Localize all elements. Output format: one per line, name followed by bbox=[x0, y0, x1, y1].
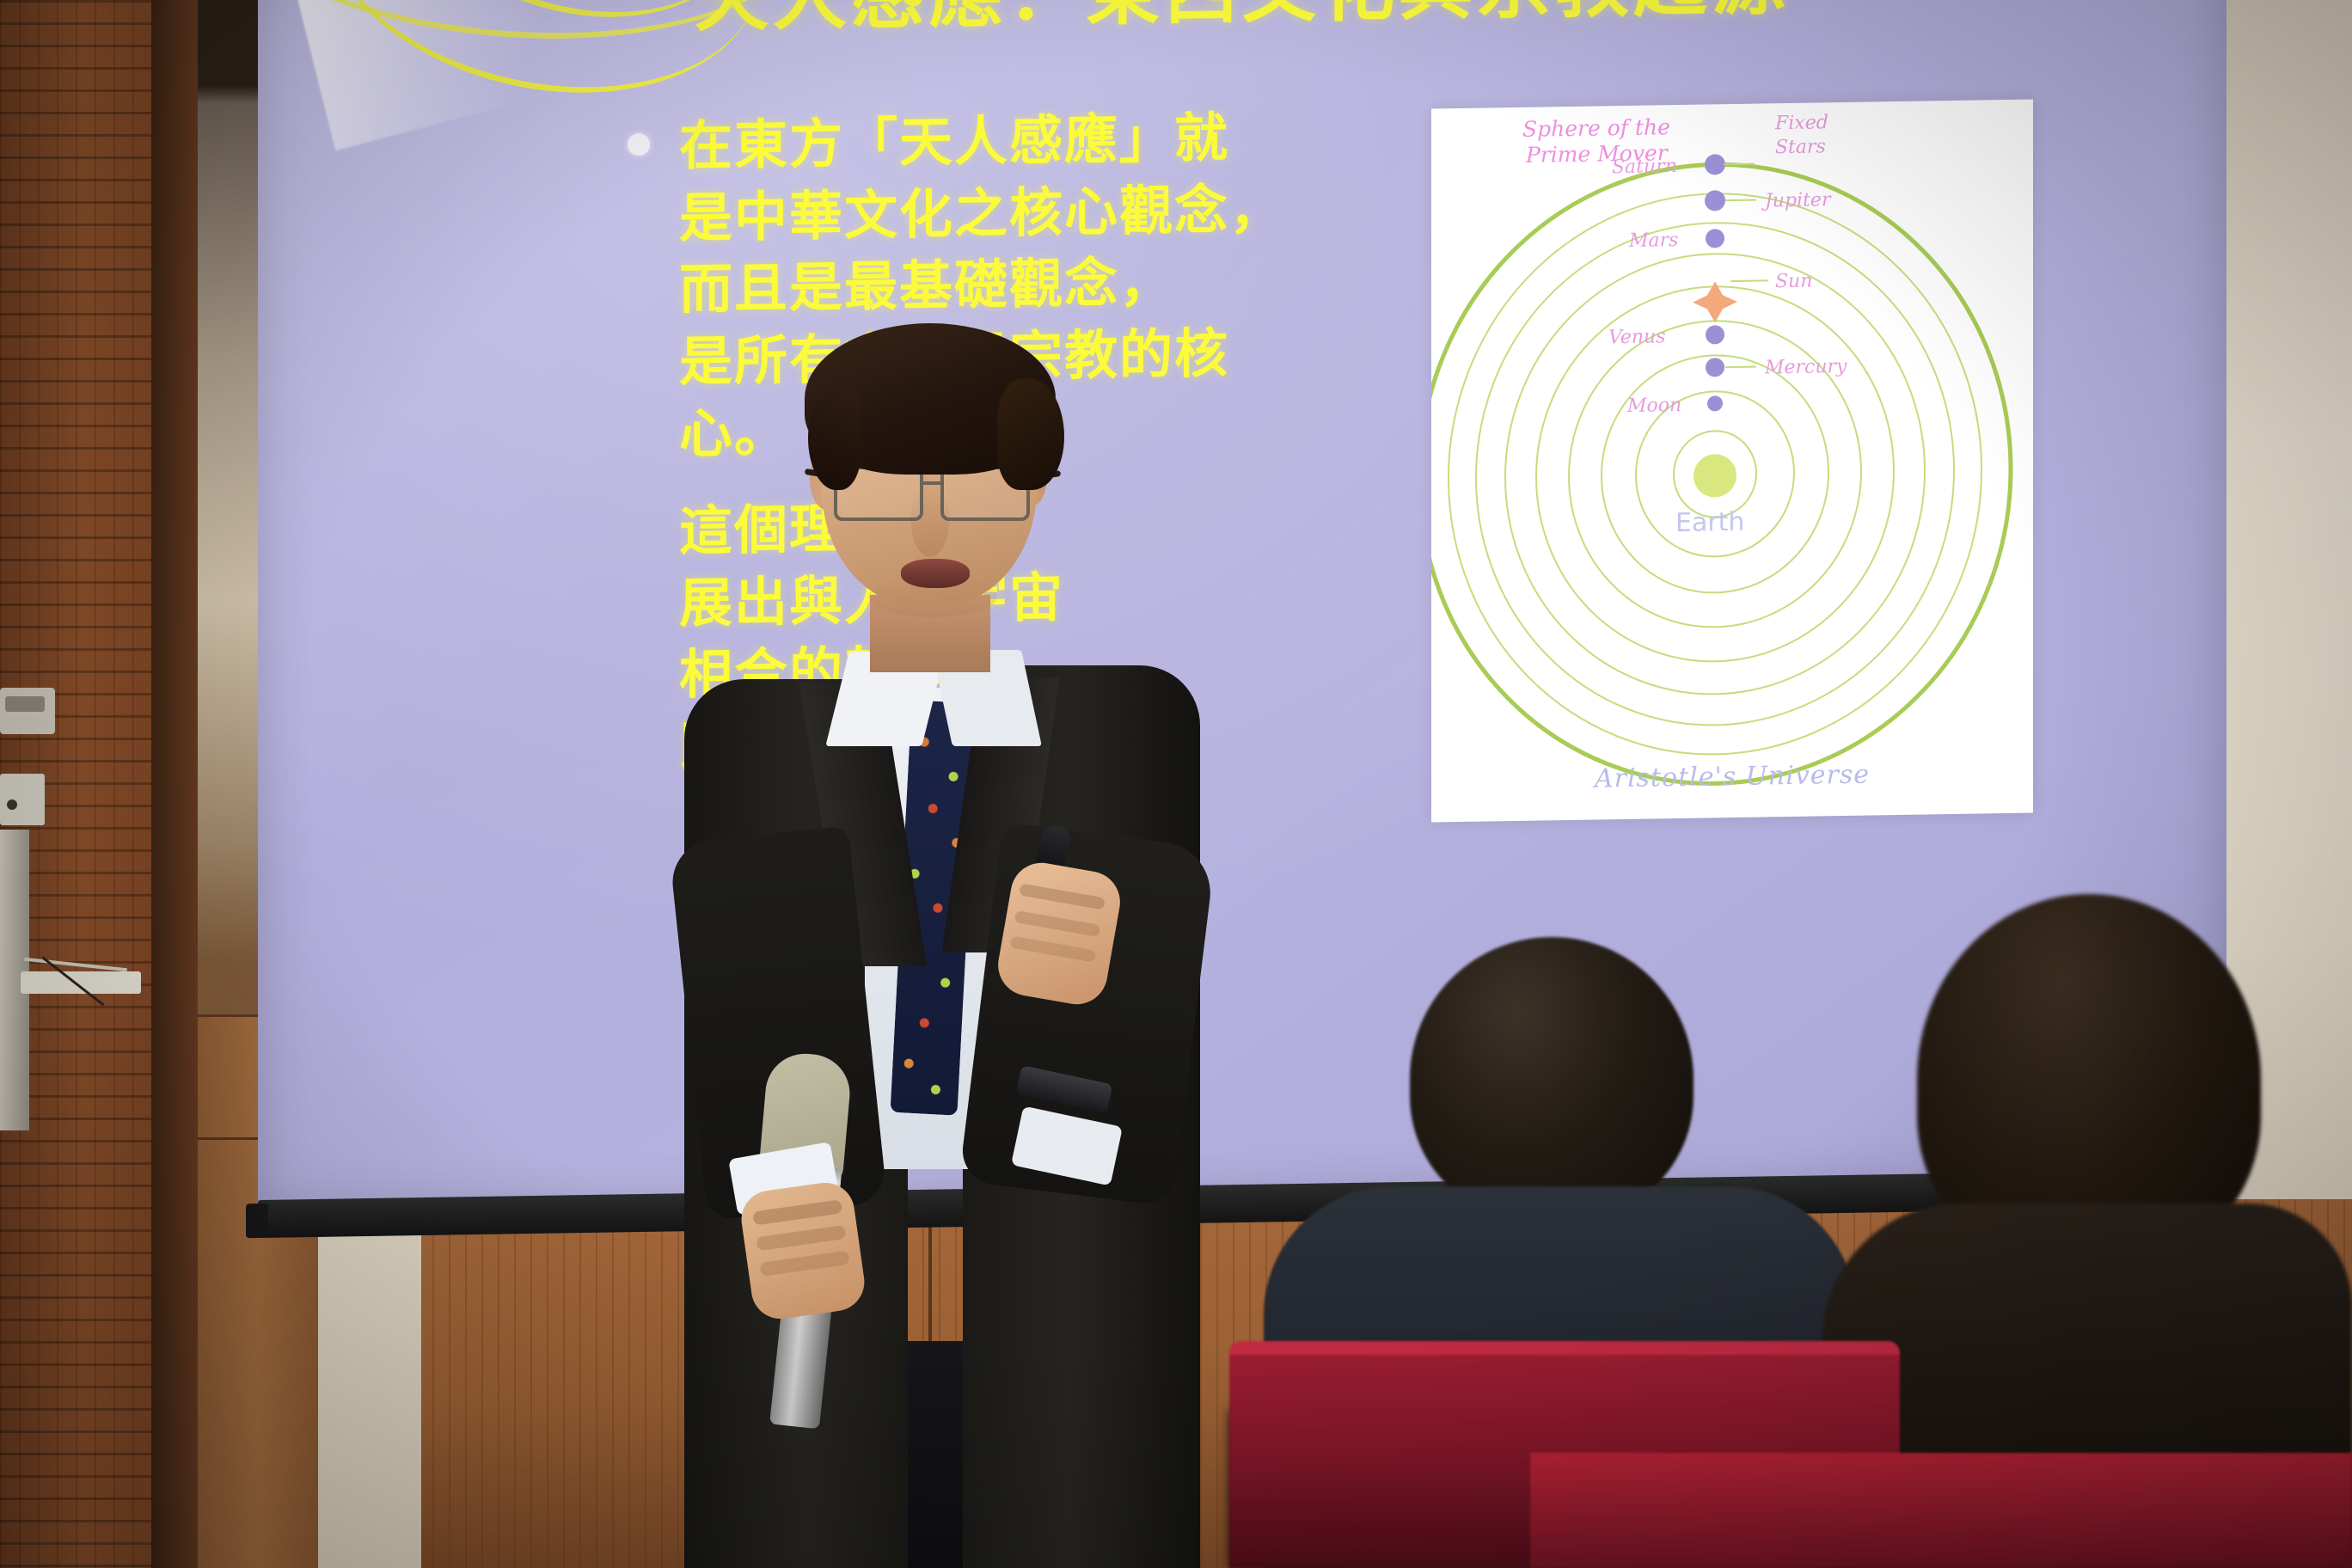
speaker-mouth bbox=[901, 559, 970, 588]
bullet-line: 在東方「天人感應」就 bbox=[679, 104, 1315, 179]
label-prime-mover-1: Sphere of the bbox=[1522, 114, 1670, 142]
label-moon: Moon bbox=[1626, 395, 1681, 417]
wall-cable-clip bbox=[21, 971, 141, 994]
label-mars: Mars bbox=[1628, 230, 1678, 252]
dot-venus bbox=[1706, 325, 1724, 344]
bullet-line: 而且是最基礎觀念， bbox=[679, 248, 1315, 322]
dot-earth bbox=[1694, 454, 1736, 498]
lecture-hall-photo: 天人感應：東西文化與宗教起源 在東方「天人感應」就 是中華文化之核心觀念， 而且… bbox=[0, 0, 2352, 1568]
speaker-figure bbox=[653, 318, 1255, 1568]
speaker-hair-side bbox=[997, 378, 1064, 490]
dot-mars bbox=[1706, 229, 1724, 248]
label-fixed-stars-1: Fixed bbox=[1774, 112, 1828, 134]
speaker-hand-left bbox=[738, 1179, 868, 1323]
label-jupiter: Jupiter bbox=[1761, 189, 1832, 211]
door-jamb bbox=[151, 0, 198, 1568]
diagram-svg: Sphere of the Prime Mover Fixed Stars Sa… bbox=[1431, 100, 2033, 823]
glasses-bridge bbox=[920, 481, 944, 485]
bullet-dot-icon bbox=[628, 133, 650, 156]
label-fixed-stars-2: Stars bbox=[1775, 136, 1826, 158]
label-saturn: Saturn bbox=[1612, 156, 1677, 178]
audience-front-left-head bbox=[1410, 937, 1694, 1221]
aristotle-universe-diagram: Sphere of the Prime Mover Fixed Stars Sa… bbox=[1431, 100, 2033, 823]
dot-moon bbox=[1707, 395, 1723, 411]
wall-control-box[interactable] bbox=[0, 774, 45, 825]
label-mercury: Mercury bbox=[1764, 356, 1847, 379]
dot-mercury bbox=[1706, 358, 1724, 377]
label-venus: Venus bbox=[1608, 326, 1666, 348]
label-earth: Earth bbox=[1675, 507, 1744, 538]
label-sun: Sun bbox=[1775, 271, 1812, 293]
dot-saturn bbox=[1705, 154, 1725, 175]
auditorium-seat[interactable] bbox=[1530, 1453, 2352, 1568]
slide-title: 天人感應：東西文化與宗教起源 bbox=[258, 0, 2226, 52]
bullet-line: 是中華文化之核心觀念， bbox=[679, 175, 1315, 250]
wall-plate-icon bbox=[0, 688, 55, 734]
